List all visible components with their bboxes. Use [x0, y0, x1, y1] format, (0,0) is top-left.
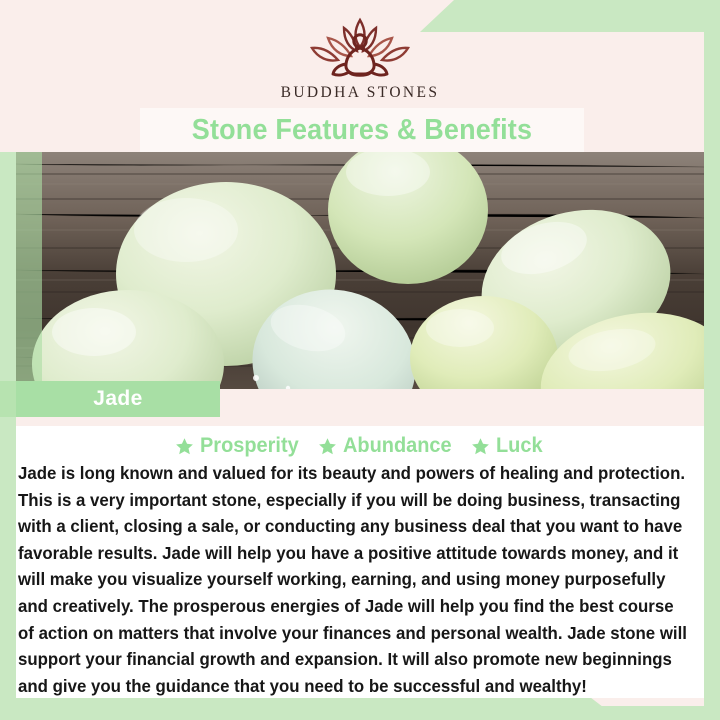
brand-name: BUDDHA STONES	[0, 84, 720, 102]
stone-info-card: BUDDHA STONES Stone Features & Benefits	[0, 0, 720, 720]
benefit-label: Luck	[496, 434, 543, 458]
benefit-label: Abundance	[343, 434, 452, 458]
star-icon	[471, 437, 490, 456]
benefit-item: Abundance	[318, 434, 457, 458]
star-icon	[175, 437, 194, 456]
jade-banner-edge	[0, 381, 16, 417]
decor-green-left-edge	[0, 152, 16, 720]
benefit-item: Luck	[471, 434, 545, 458]
stone-photo	[16, 152, 704, 389]
decor-green-right-edge	[704, 0, 720, 720]
stone-description: Jade is long known and valued for its be…	[18, 461, 692, 700]
benefits-row: Prosperity Abundance Luck	[16, 430, 704, 462]
benefit-label: Prosperity	[200, 434, 299, 458]
lotus-meditation-icon	[294, 14, 426, 82]
star-icon	[318, 437, 337, 456]
jade-stones-image	[16, 152, 704, 389]
stone-name-label: Jade	[16, 381, 220, 417]
title-banner: Stone Features & Benefits	[140, 108, 584, 153]
photo-green-overlay	[16, 152, 42, 389]
benefit-item: Prosperity	[175, 434, 304, 458]
page-title: Stone Features & Benefits	[192, 114, 532, 147]
brand-logo: BUDDHA STONES	[0, 14, 720, 102]
